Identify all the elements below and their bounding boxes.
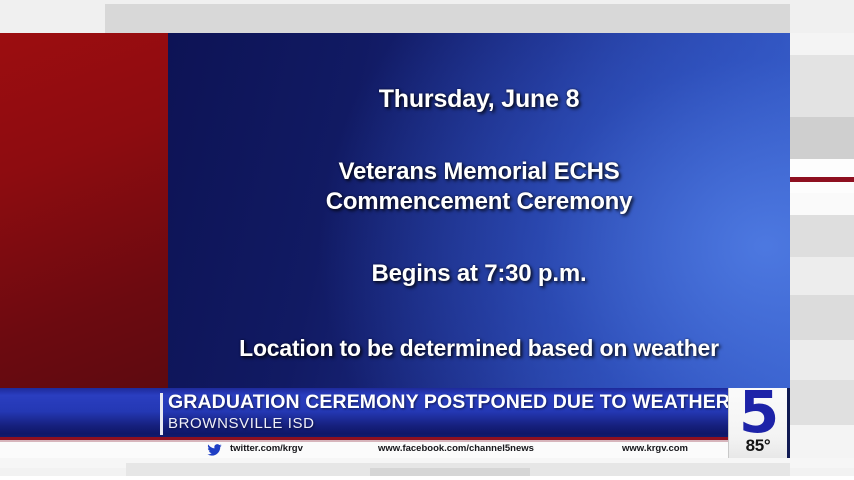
sidebar-band-6 [790, 257, 854, 295]
graphic-line-date: Thursday, June 8 [168, 85, 790, 115]
sidebar-band-8 [790, 340, 854, 380]
broadcast-fullscreen-graphic: Thursday, June 8 Veterans Memorial ECHS … [0, 33, 790, 388]
graphic-line-location: Location to be determined based on weath… [168, 335, 790, 362]
sidebar-band-1 [790, 55, 854, 117]
page-backdrop: Thursday, June 8 Veterans Memorial ECHS … [0, 0, 854, 480]
channel-5-logo: 5 [729, 383, 787, 441]
graphic-red-panel [0, 33, 168, 388]
temperature-readout: 85° [729, 436, 787, 456]
lower-third-bar: GRADUATION CEREMONY POSTPONED DUE TO WEA… [0, 388, 728, 440]
graphic-line-org-2: Commencement Ceremony [168, 188, 790, 216]
video-player-frame[interactable]: Thursday, June 8 Veterans Memorial ECHS … [0, 33, 790, 458]
graphic-line-time: Begins at 7:30 p.m. [168, 260, 790, 288]
sidebar-band-2 [790, 117, 854, 159]
twitter-handle-text: twitter.com/krgv [230, 443, 303, 454]
page-strip-top-inner [105, 4, 790, 33]
graphic-text-block: Thursday, June 8 Veterans Memorial ECHS … [168, 33, 790, 388]
sidebar-band-9 [790, 380, 854, 425]
page-sidebar-right [790, 33, 854, 458]
sidebar-band-4 [790, 193, 854, 215]
social-handles-bar: twitter.com/krgv www.facebook.com/channe… [0, 440, 728, 458]
page-strip-bottom-d [0, 476, 854, 480]
graphic-line-org-1: Veterans Memorial ECHS [168, 158, 790, 186]
station-logo-box: 5 85° [728, 388, 787, 458]
lower-third-banner: GRADUATION CEREMONY POSTPONED DUE TO WEA… [0, 388, 790, 458]
sidebar-band-5 [790, 215, 854, 257]
lower-third-accent-rule [160, 393, 163, 435]
sidebar-rule [790, 177, 854, 182]
sidebar-band-7 [790, 295, 854, 340]
website-url-text: www.krgv.com [622, 443, 688, 454]
lower-third-headline: GRADUATION CEREMONY POSTPONED DUE TO WEA… [168, 391, 730, 414]
facebook-url-text: www.facebook.com/channel5news [378, 443, 534, 454]
lower-third-subline: BROWNSVILLE ISD [168, 415, 315, 432]
twitter-bird-icon [207, 443, 222, 455]
